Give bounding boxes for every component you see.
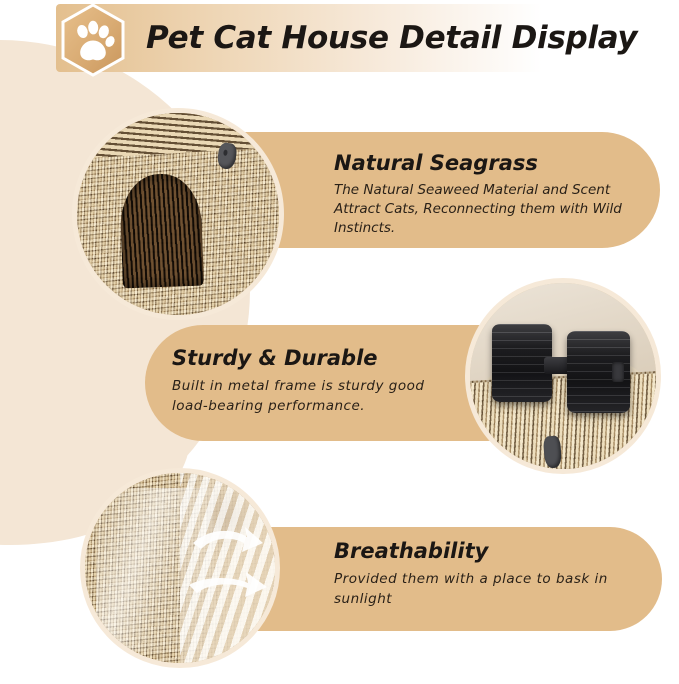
dumbbell-plate-right xyxy=(567,331,630,413)
feature-image-sturdy-durable xyxy=(465,278,661,474)
feature-text-breathability: Breathability Provided them with a place… xyxy=(334,538,634,609)
metal-clip-hardware-icon xyxy=(543,435,562,468)
feature-title: Natural Seagrass xyxy=(334,150,644,177)
feature-title: Sturdy & Durable xyxy=(172,345,437,372)
dumbbell-plate-left xyxy=(492,324,552,402)
feature-description: Built in metal frame is sturdy good load… xyxy=(172,376,437,416)
feature-text-natural-seagrass: Natural Seagrass The Natural Seaweed Mat… xyxy=(334,150,644,238)
page-title: Pet Cat House Detail Display xyxy=(146,13,666,63)
feature-image-breathability xyxy=(80,468,280,668)
feature-title: Breathability xyxy=(334,538,634,565)
feature-text-sturdy-durable: Sturdy & Durable Built in metal frame is… xyxy=(172,345,437,416)
feature-image-natural-seagrass xyxy=(72,108,284,320)
feature-description: Provided them with a place to bask in su… xyxy=(334,569,634,609)
airflow-arrows-icon xyxy=(85,473,275,663)
feature-description: The Natural Seaweed Material and Scent A… xyxy=(334,181,644,238)
paw-print-icon xyxy=(55,2,131,78)
